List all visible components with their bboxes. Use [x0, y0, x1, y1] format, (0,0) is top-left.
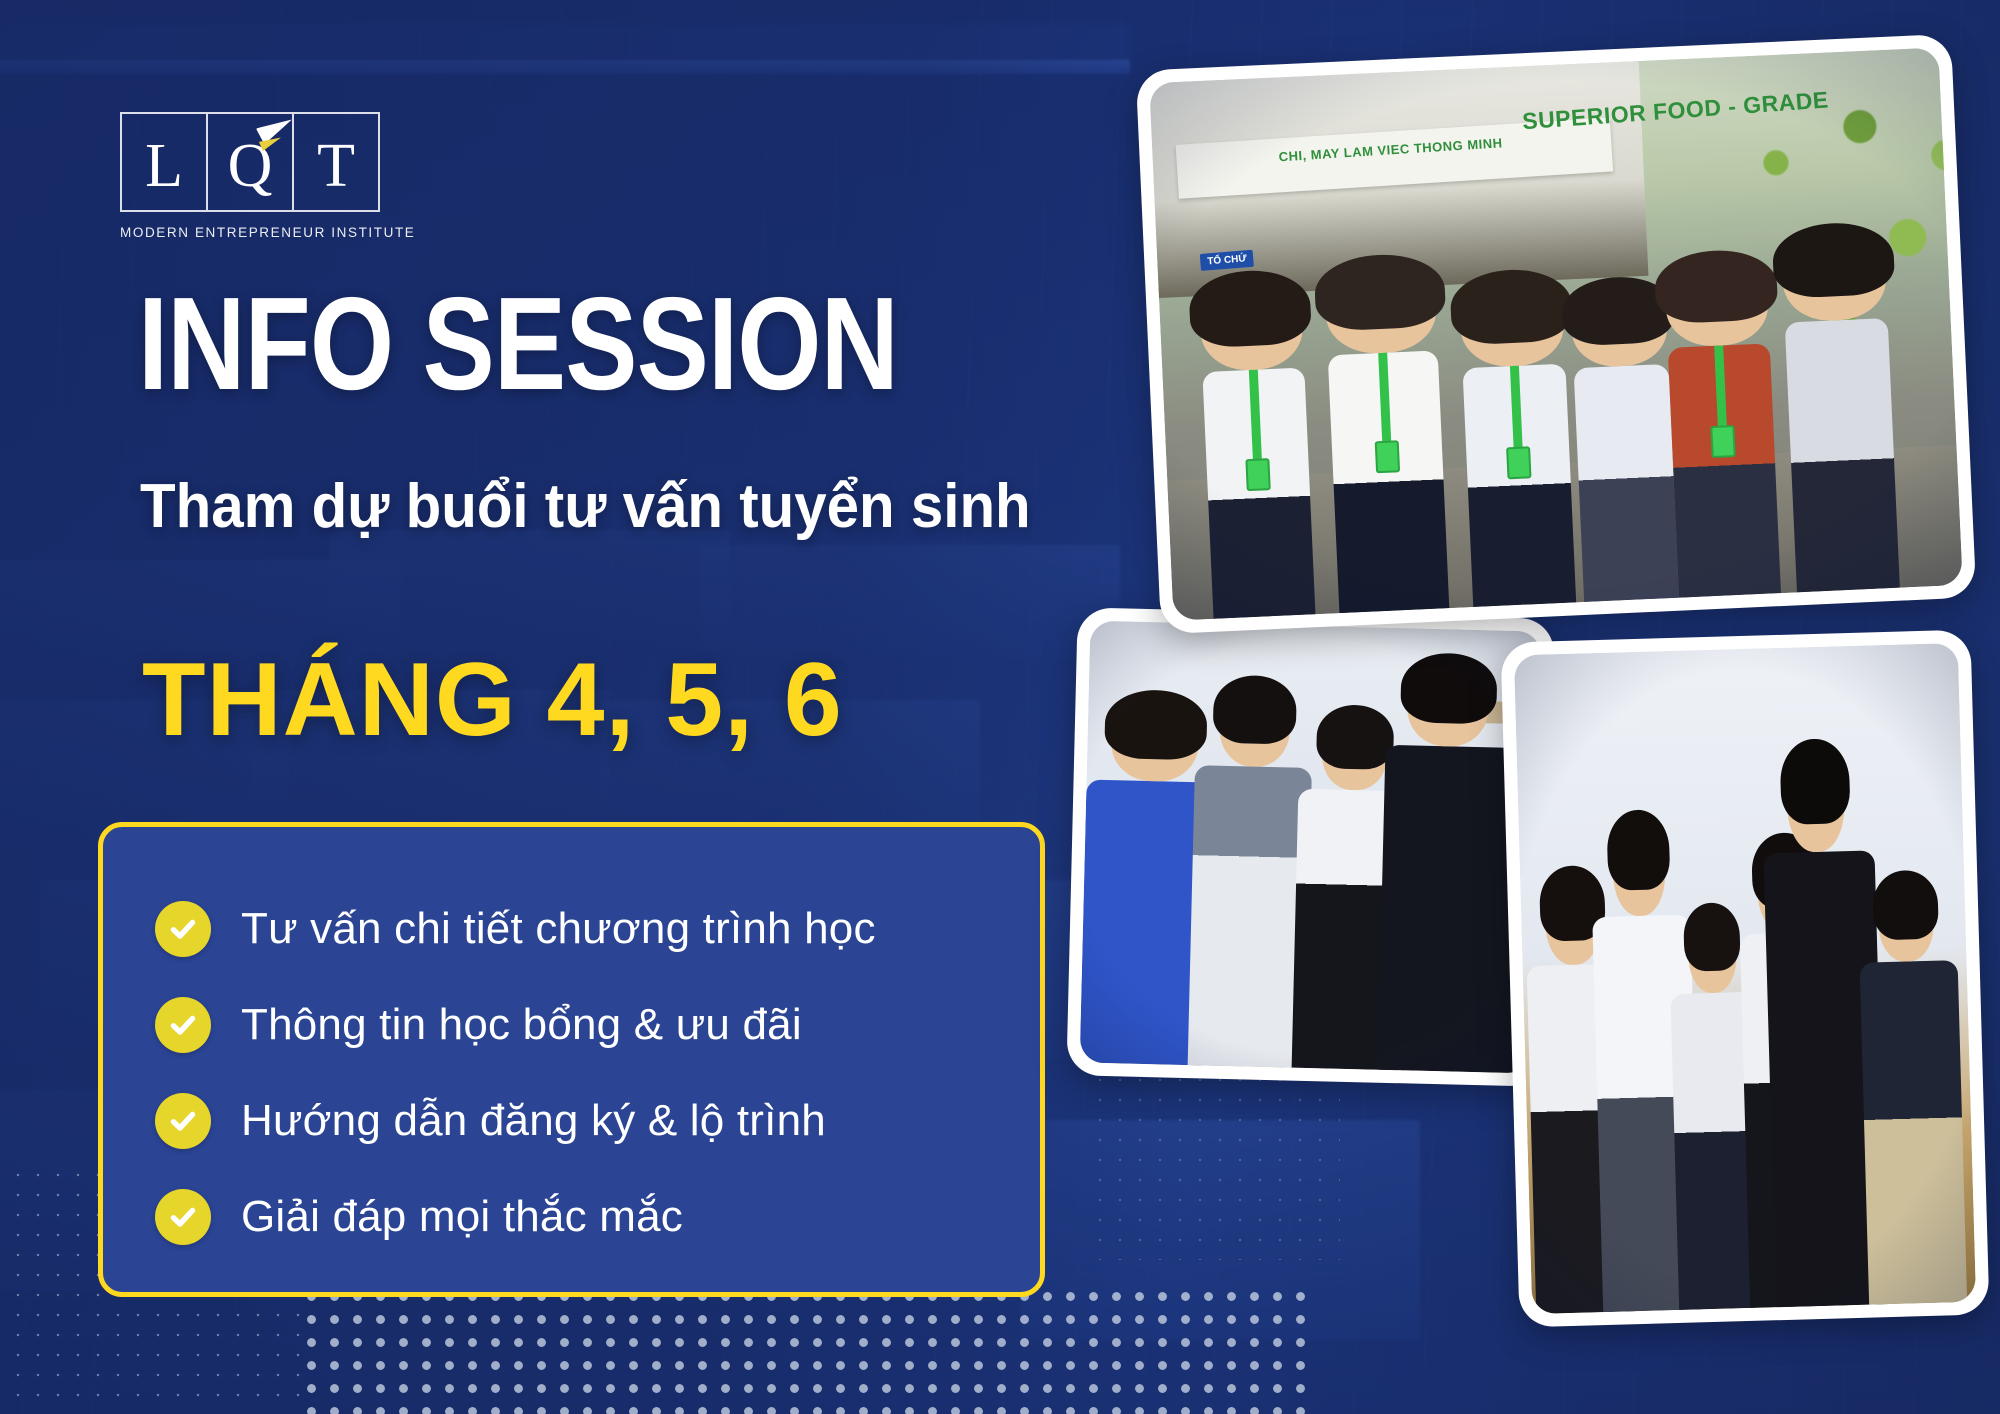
check-circle-icon [155, 997, 211, 1053]
poster-canvas: L Q T MODERN ENTREPRENEUR INSTITUTE INFO… [0, 0, 2000, 1414]
benefit-item-2: Hướng dẫn đăng ký & lộ trình [155, 1073, 994, 1169]
benefits-panel: Tư vấn chi tiết chương trình học Thông t… [98, 822, 1045, 1297]
logo-box-l: L [120, 112, 208, 212]
photo-students-walking-street: CHI, MAY LAM VIEC THONG MINH SUPERIOR FO… [1136, 34, 1977, 634]
months-highlight: THÁNG 4, 5, 6 [142, 648, 843, 752]
photo-students-networking [1066, 607, 1554, 1087]
photo-top-inner: CHI, MAY LAM VIEC THONG MINH SUPERIOR FO… [1149, 47, 1963, 620]
page-subtitle: Tham dự buổi tư vấn tuyển sinh [140, 474, 1031, 539]
photo-right-inner [1514, 643, 1976, 1314]
logo-box-t: T [294, 112, 380, 212]
benefit-label-2: Hướng dẫn đăng ký & lộ trình [241, 1096, 826, 1146]
benefit-item-0: Tư vấn chi tiết chương trình học [155, 881, 994, 977]
benefit-label-0: Tư vấn chi tiết chương trình học [241, 904, 876, 954]
benefit-item-1: Thông tin học bổng & ưu đãi [155, 977, 994, 1073]
brand-logo: L Q T MODERN ENTREPRENEUR INSTITUTE [120, 112, 380, 240]
benefit-label-1: Thông tin học bổng & ưu đãi [241, 1000, 802, 1050]
logo-q-with-feather: Q [228, 131, 273, 193]
logo-letter-boxes: L Q T [120, 112, 380, 212]
logo-box-q: Q [208, 112, 294, 212]
benefit-label-3: Giải đáp mọi thắc mắc [241, 1192, 683, 1242]
check-circle-icon [155, 1189, 211, 1245]
logo-tagline: MODERN ENTREPRENEUR INSTITUTE [120, 225, 380, 240]
photo-seated-audience [1501, 630, 1990, 1328]
benefit-item-3: Giải đáp mọi thắc mắc [155, 1169, 994, 1265]
logo-letter-l: L [145, 135, 183, 197]
logo-letter-t: T [317, 135, 355, 197]
page-title: INFO SESSION [138, 278, 898, 410]
check-circle-icon [155, 1093, 211, 1149]
photo-mid-inner [1080, 621, 1542, 1074]
check-circle-icon [155, 901, 211, 957]
